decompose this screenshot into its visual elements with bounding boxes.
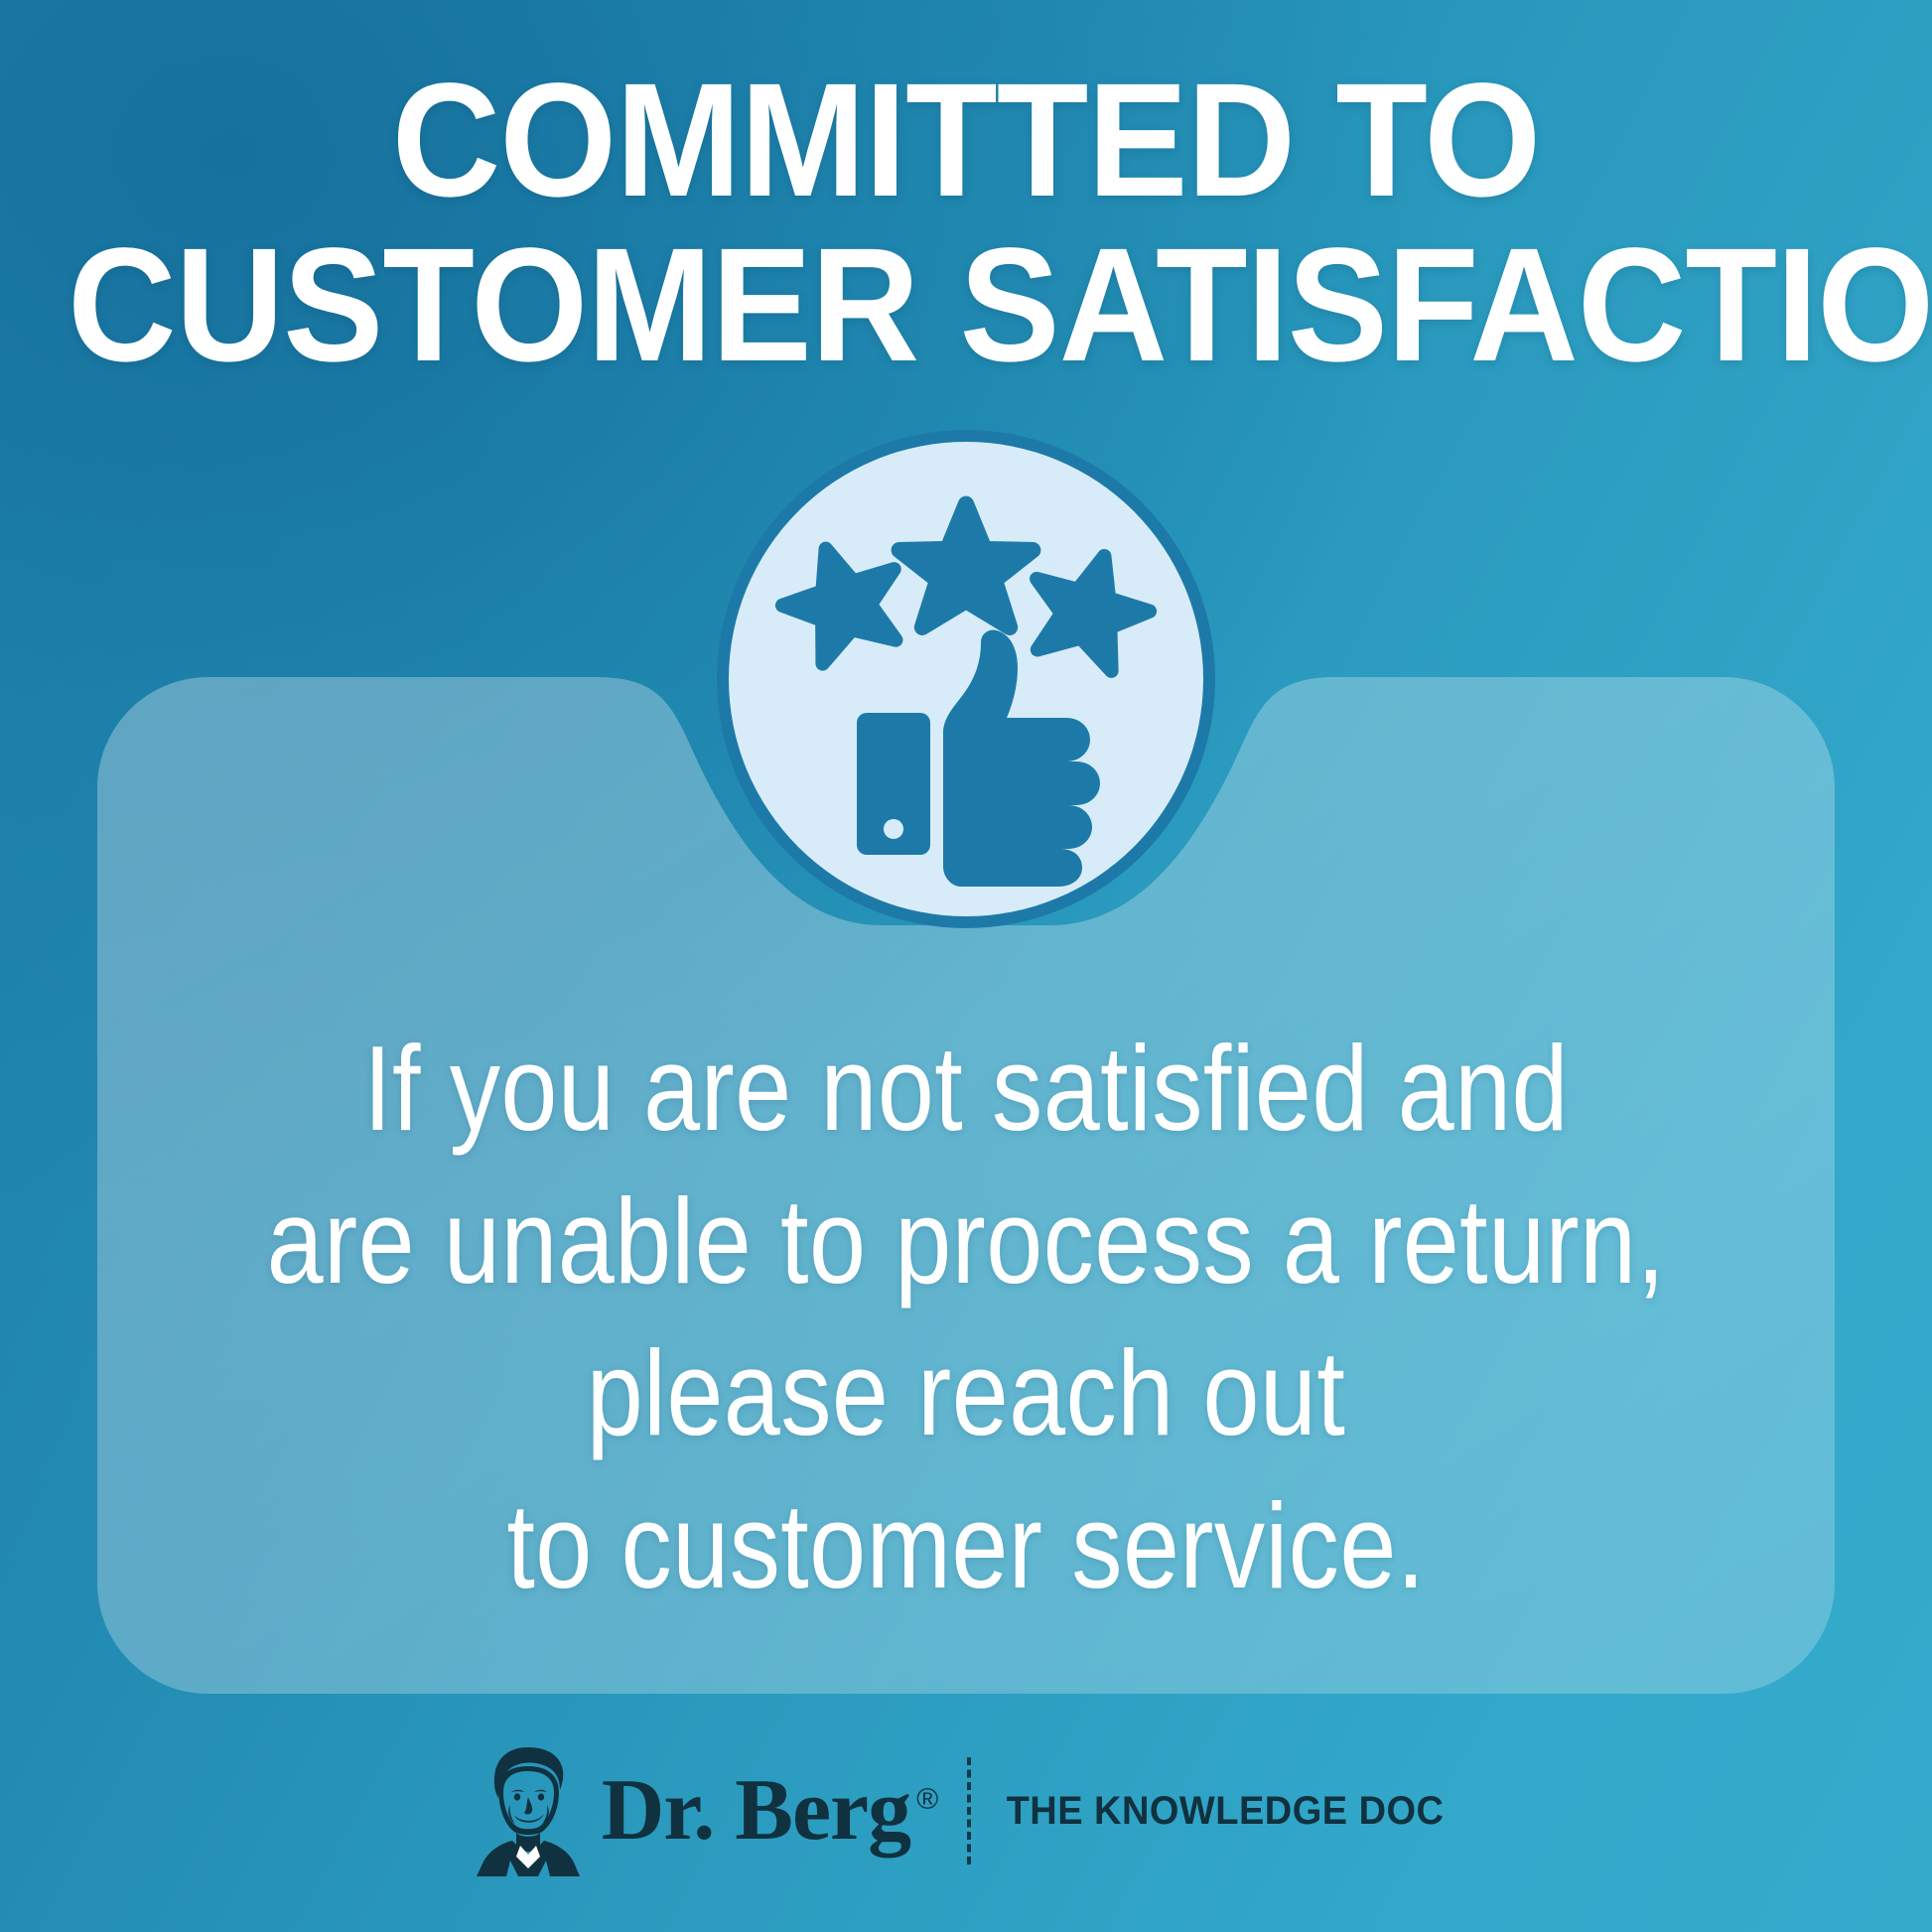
message-line-2: are unable to process a return,: [236, 1166, 1696, 1318]
message-text: If you are not satisfied and are unable …: [236, 1013, 1696, 1623]
brand-footer: Dr. Berg® THE KNOWLEDGE DOC: [0, 1745, 1932, 1876]
message-line-4: to customer service.: [236, 1470, 1696, 1623]
three-stars-thumbs-up-icon: [717, 430, 1215, 928]
brand-name: Dr. Berg: [602, 1762, 910, 1859]
headline-line-1: COMMITTED TO: [68, 58, 1864, 222]
brand-tagline: THE KNOWLEDGE DOC: [1007, 1789, 1445, 1834]
promotional-poster: COMMITTED TO CUSTOMER SATISFACTION: [0, 0, 1932, 1932]
logo-divider: [967, 1757, 971, 1864]
registered-trademark-icon: ®: [916, 1783, 937, 1816]
brand-wordmark: Dr. Berg®: [602, 1767, 937, 1855]
page-title: COMMITTED TO CUSTOMER SATISFACTION: [68, 58, 1864, 388]
headline-line-2: CUSTOMER SATISFACTION: [68, 222, 1864, 387]
dr-berg-portrait-icon: [477, 1745, 580, 1876]
message-line-3: please reach out: [236, 1317, 1696, 1470]
message-line-1: If you are not satisfied and: [236, 1013, 1696, 1166]
